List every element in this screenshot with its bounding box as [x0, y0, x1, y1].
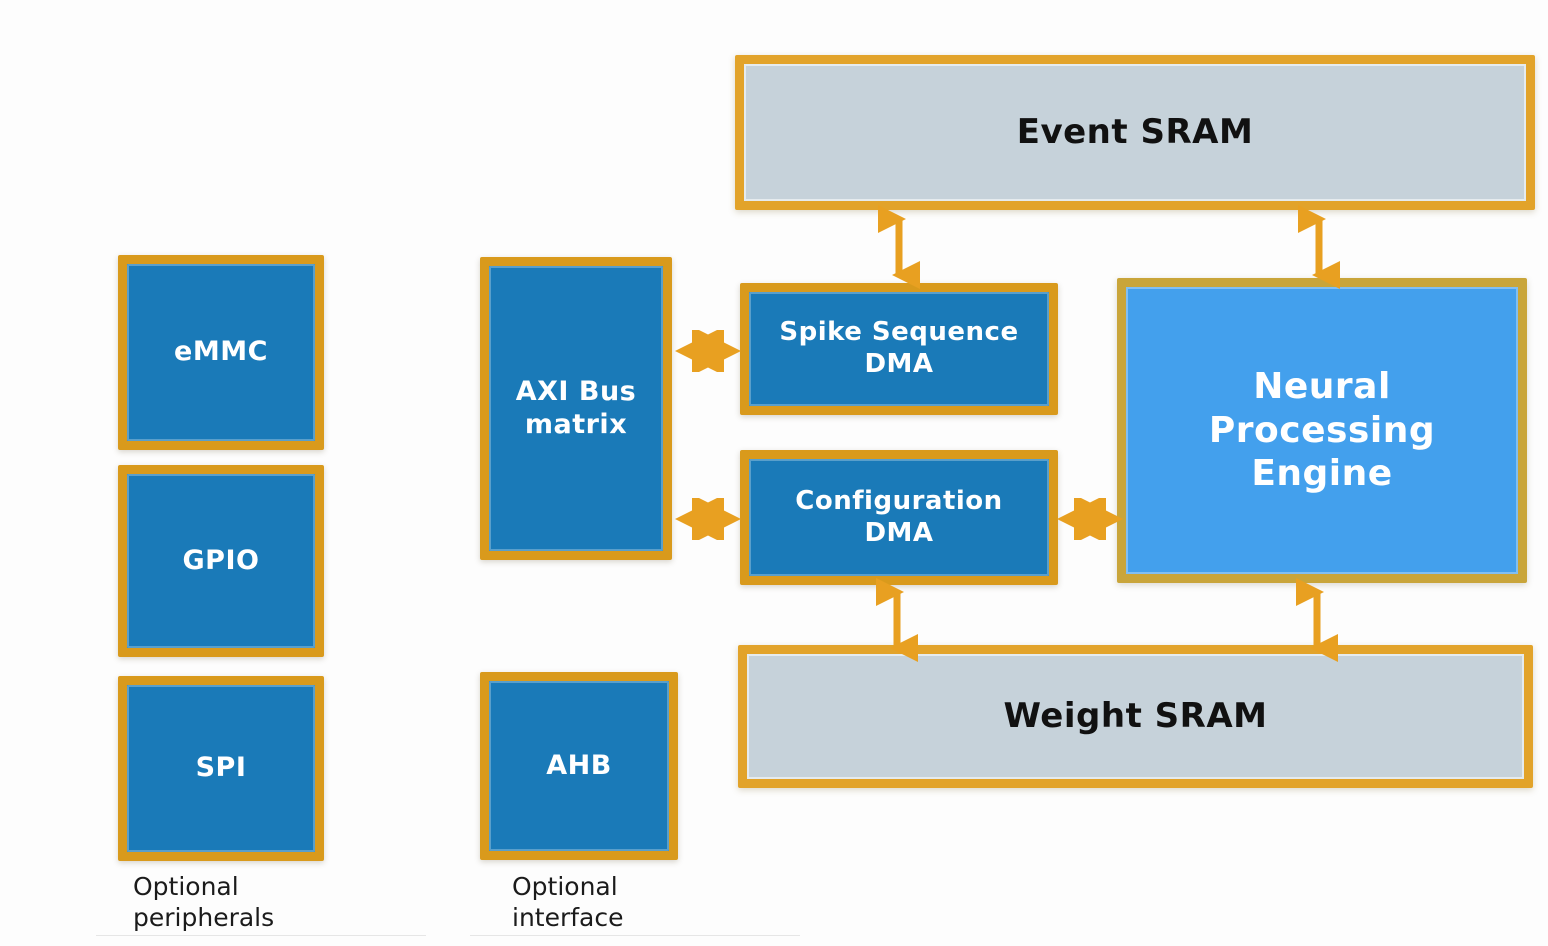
arrow-npe-to-event-sram: [1298, 205, 1340, 289]
block-emmc[interactable]: eMMC: [118, 255, 324, 450]
block-configuration-dma-label: Configuration DMA: [761, 486, 1037, 549]
block-axi-bus-matrix[interactable]: AXI Bus matrix: [480, 257, 672, 560]
block-event-sram-label: Event SRAM: [775, 112, 1494, 153]
block-weight-sram-label: Weight SRAM: [778, 696, 1493, 737]
arrow-axi-to-spike-dma: [668, 330, 748, 372]
arrow-axi-to-config-dma: [668, 498, 748, 540]
block-event-sram[interactable]: Event SRAM: [735, 55, 1535, 210]
block-weight-sram[interactable]: Weight SRAM: [738, 645, 1533, 788]
block-spike-sequence-dma[interactable]: Spike Sequence DMA: [740, 283, 1058, 415]
block-configuration-dma[interactable]: Configuration DMA: [740, 450, 1058, 585]
block-spi[interactable]: SPI: [118, 676, 324, 861]
block-diagram-canvas: Event SRAM eMMC GPIO SPI AXI Bus matrix …: [0, 0, 1548, 946]
block-neural-processing-engine-label: Neural Processing Engine: [1142, 365, 1503, 497]
block-ahb[interactable]: AHB: [480, 672, 678, 860]
block-spike-sequence-dma-label: Spike Sequence DMA: [761, 317, 1037, 380]
arrow-npe-to-weight-sram: [1296, 578, 1338, 662]
caption-optional-interface: Optional interface: [512, 872, 624, 933]
block-ahb-label: AHB: [496, 750, 662, 783]
block-neural-processing-engine[interactable]: Neural Processing Engine: [1117, 278, 1527, 583]
block-axi-bus-matrix-label: AXI Bus matrix: [496, 376, 656, 442]
arrow-config-dma-to-weight-sram: [876, 578, 918, 662]
block-gpio-label: GPIO: [135, 545, 308, 578]
divider-left: [96, 935, 426, 936]
arrow-config-dma-to-npe: [1050, 498, 1130, 540]
block-emmc-label: eMMC: [135, 336, 308, 369]
caption-optional-peripherals: Optional peripherals: [133, 872, 274, 933]
divider-middle: [470, 935, 800, 936]
block-gpio[interactable]: GPIO: [118, 465, 324, 657]
arrow-spike-dma-to-event-sram: [878, 205, 920, 289]
block-spi-label: SPI: [135, 752, 308, 785]
